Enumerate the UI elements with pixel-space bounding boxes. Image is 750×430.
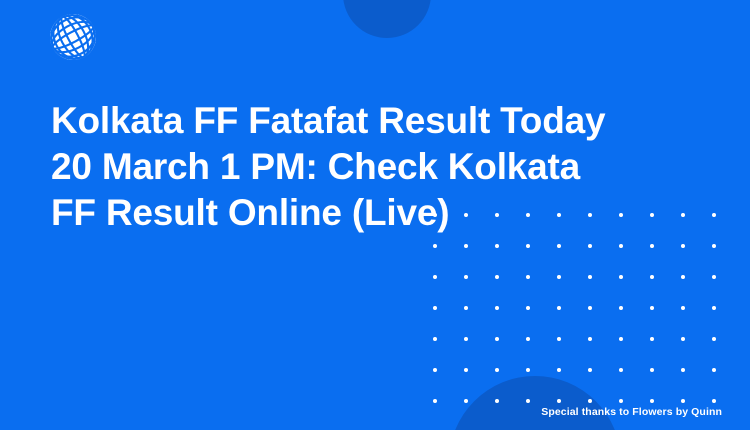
decorative-dot bbox=[681, 244, 685, 248]
decorative-dot bbox=[712, 337, 716, 341]
decorative-dot bbox=[495, 337, 499, 341]
decorative-dot bbox=[557, 337, 561, 341]
decorative-dot bbox=[650, 275, 654, 279]
headline-line-1: Kolkata FF Fatafat Result Today bbox=[51, 98, 691, 144]
decorative-dot bbox=[557, 399, 561, 403]
decorative-dot bbox=[464, 275, 468, 279]
decorative-dot bbox=[495, 368, 499, 372]
decorative-dot bbox=[464, 399, 468, 403]
decorative-dot bbox=[433, 244, 437, 248]
decorative-dot bbox=[495, 244, 499, 248]
decorative-dot bbox=[464, 244, 468, 248]
credit-text: Special thanks to Flowers by Quinn bbox=[541, 406, 722, 418]
page-title: Kolkata FF Fatafat Result Today 20 March… bbox=[51, 98, 691, 236]
decorative-dot bbox=[433, 306, 437, 310]
decorative-dot bbox=[712, 368, 716, 372]
decorative-dot bbox=[588, 306, 592, 310]
decorative-dot bbox=[619, 399, 623, 403]
decorative-dot bbox=[495, 399, 499, 403]
decorative-dot bbox=[712, 306, 716, 310]
decorative-dot bbox=[557, 244, 561, 248]
decorative-dot bbox=[588, 399, 592, 403]
decorative-dot bbox=[526, 306, 530, 310]
decorative-dot bbox=[526, 368, 530, 372]
decorative-dot bbox=[712, 399, 716, 403]
decorative-dot bbox=[588, 244, 592, 248]
decorative-dot bbox=[495, 306, 499, 310]
headline-line-3: FF Result Online (Live) bbox=[51, 190, 691, 236]
decorative-dot bbox=[526, 244, 530, 248]
decorative-dot bbox=[464, 337, 468, 341]
decorative-dot bbox=[557, 306, 561, 310]
decorative-dot bbox=[588, 368, 592, 372]
banner-canvas: Kolkata FF Fatafat Result Today 20 March… bbox=[0, 0, 750, 430]
decorative-dot-grid bbox=[430, 210, 712, 406]
decorative-dot bbox=[526, 399, 530, 403]
decorative-dot bbox=[588, 275, 592, 279]
decorative-dot bbox=[712, 275, 716, 279]
headline-line-2: 20 March 1 PM: Check Kolkata bbox=[51, 144, 691, 190]
decorative-dot bbox=[619, 306, 623, 310]
decorative-dot bbox=[650, 244, 654, 248]
decorative-dot bbox=[681, 306, 685, 310]
decorative-dot bbox=[526, 337, 530, 341]
decorative-dot bbox=[433, 368, 437, 372]
decorative-dot bbox=[681, 368, 685, 372]
decorative-dot bbox=[557, 275, 561, 279]
decorative-dot bbox=[433, 337, 437, 341]
decorative-dot bbox=[712, 244, 716, 248]
decorative-circle-top bbox=[343, 0, 431, 38]
decorative-dot bbox=[557, 368, 561, 372]
decorative-dot bbox=[650, 306, 654, 310]
globe-icon bbox=[47, 11, 99, 63]
decorative-dot bbox=[464, 306, 468, 310]
decorative-dot bbox=[619, 275, 623, 279]
decorative-dot bbox=[433, 275, 437, 279]
decorative-dot bbox=[619, 368, 623, 372]
decorative-dot bbox=[588, 337, 592, 341]
decorative-dot bbox=[681, 337, 685, 341]
decorative-dot bbox=[495, 275, 499, 279]
decorative-dot bbox=[681, 275, 685, 279]
decorative-dot bbox=[619, 244, 623, 248]
decorative-dot bbox=[433, 399, 437, 403]
decorative-dot bbox=[619, 337, 623, 341]
decorative-dot bbox=[681, 399, 685, 403]
decorative-dot bbox=[712, 213, 716, 217]
decorative-dot bbox=[650, 368, 654, 372]
decorative-dot bbox=[650, 337, 654, 341]
decorative-dot bbox=[650, 399, 654, 403]
decorative-dot bbox=[526, 275, 530, 279]
decorative-dot bbox=[464, 368, 468, 372]
